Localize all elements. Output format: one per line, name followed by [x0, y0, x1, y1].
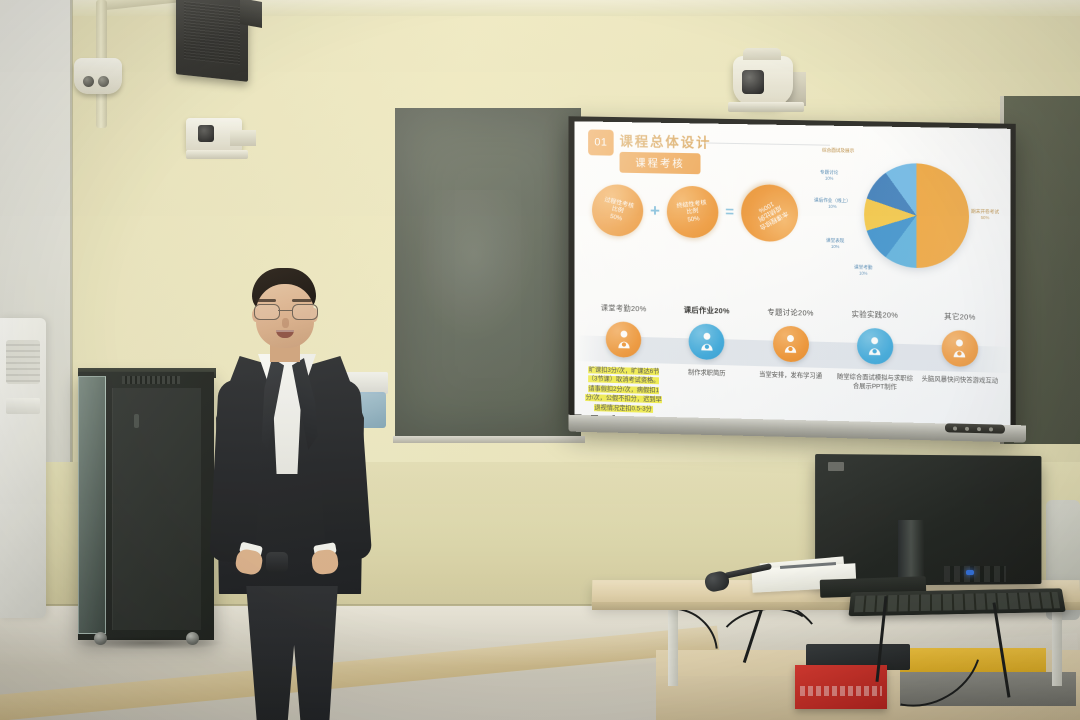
slide-section-badge: 01 [588, 129, 614, 155]
column-description: 当堂安排，发布学习通 [752, 370, 830, 382]
dome-camera-icon [74, 58, 122, 94]
ceiling-speaker-icon [176, 0, 248, 82]
pie-chart-graphic [864, 162, 969, 269]
speaker-bracket [240, 0, 262, 28]
formula-result-total: 本课程综合 成绩比例 100% [731, 174, 809, 251]
red-box-label [800, 686, 882, 696]
assessment-pie-chart: 综合面试及展示 专题讨论 10% 课后作业（线上） 10% 课堂表现 10% 课… [820, 148, 1002, 303]
air-conditioner-vent [6, 340, 40, 384]
nose [282, 318, 289, 328]
server-rack-handle[interactable] [134, 414, 139, 428]
monitor-power-led [966, 570, 974, 575]
person-badge-icon [689, 323, 725, 360]
assessment-column[interactable]: 课堂考勤20% 旷课扣3分/次，旷课达6节（3节课）取消考试资格。请事假扣2分/… [582, 302, 665, 415]
server-rack-glass-panel [78, 376, 106, 634]
trousers [240, 586, 344, 720]
eyeglasses-icon [254, 304, 316, 318]
formula-term-process: 过程性考核 比例 50% [587, 179, 648, 241]
presentation-clicker[interactable] [266, 552, 288, 572]
slide-header-rule [704, 142, 830, 145]
classroom-photo-scene: 01 课程总体设计 课程考核 过程性考核 比例 50% + 终结性考核 比例 5… [0, 0, 1080, 720]
presenter [214, 268, 380, 720]
wall-camera-base [186, 150, 248, 159]
slide-subtitle: 课程考核 [620, 152, 701, 174]
person-badge-icon [773, 326, 809, 363]
wall-corner-edge [70, 0, 73, 470]
pie-label-4: 课堂考勤 10% [854, 264, 872, 276]
monitor-brand-logo [828, 462, 844, 471]
equals-icon: = [725, 205, 734, 220]
desk-leg [1052, 606, 1062, 686]
person-badge-icon [857, 328, 893, 365]
desk-leg [668, 606, 678, 686]
column-description: 头脑风暴快问快答游戏互动 [920, 375, 999, 387]
column-description: 随堂综合面试模拟与求职综合展示PPT制作 [836, 372, 914, 393]
server-rack-vent [122, 376, 180, 384]
person-badge-icon [606, 321, 641, 358]
assessment-column[interactable]: 实验实践20% 随堂综合面试模拟与求职综合展示PPT制作 [833, 308, 918, 422]
assessment-column[interactable]: 课后作业20% 制作求职简历 [665, 304, 748, 417]
column-description: 旷课扣3分/次，旷课达6节（3节课）取消考试资格。请事假扣2分/次，病假扣1分/… [585, 365, 662, 414]
assessment-column[interactable]: 专题讨论20% 当堂安排，发布学习通 [749, 306, 833, 419]
eyebrow-left [256, 299, 276, 302]
wall-camera-arm [230, 130, 256, 146]
assessment-column[interactable]: 其它20% 头脑风暴快问快答游戏互动 [917, 310, 1002, 424]
assessment-columns: 课堂考勤20% 旷课扣3分/次，旷课达6节（3节课）取消考试资格。请事假扣2分/… [582, 302, 1002, 425]
pie-label-1: 专题讨论 10% [820, 170, 838, 182]
pie-label-3: 课堂表现 10% [826, 238, 844, 250]
eyebrow-right [292, 299, 312, 302]
pie-label-0: 综合面试及展示 [822, 148, 854, 155]
ptz-camera-mount-plate [728, 102, 804, 112]
slide-header: 01 课程总体设计 课程考核 [588, 129, 711, 174]
slide-title: 课程总体设计 [620, 130, 712, 152]
column-header: 专题讨论20% [767, 306, 813, 318]
server-rack-door[interactable] [112, 388, 201, 630]
blackboard-smudge [420, 190, 540, 350]
pie-label-2: 课后作业（线上） 10% [814, 197, 851, 210]
formula-term-summative: 终结性考核 比例 50% [663, 183, 721, 241]
column-header: 课堂考勤20% [601, 302, 647, 314]
pie-label-5: 期末开卷考试 50% [971, 209, 999, 222]
blackboard-chalk-tray [393, 436, 585, 443]
display-control-buttons[interactable] [945, 423, 1005, 433]
presentation-slide[interactable]: 01 课程总体设计 课程考核 过程性考核 比例 50% + 终结性考核 比例 5… [574, 121, 1010, 427]
ptz-camera-icon [733, 56, 793, 106]
rack-floor-shadow [74, 636, 224, 650]
column-header: 实验实践20% [852, 309, 899, 321]
monitor-ports [944, 566, 1006, 582]
person-badge-icon [942, 330, 978, 367]
column-header: 其它20% [944, 311, 975, 323]
plus-icon: + [650, 202, 660, 219]
air-conditioner-panel [6, 398, 40, 414]
grading-formula: 过程性考核 比例 50% + 终结性考核 比例 50% = 本课程综合 成绩比例… [592, 181, 798, 242]
column-description: 制作求职简历 [668, 368, 745, 380]
arm-left [209, 379, 264, 563]
formula-term2-line3: 50% [687, 214, 700, 223]
column-header: 课后作业20% [684, 304, 730, 316]
